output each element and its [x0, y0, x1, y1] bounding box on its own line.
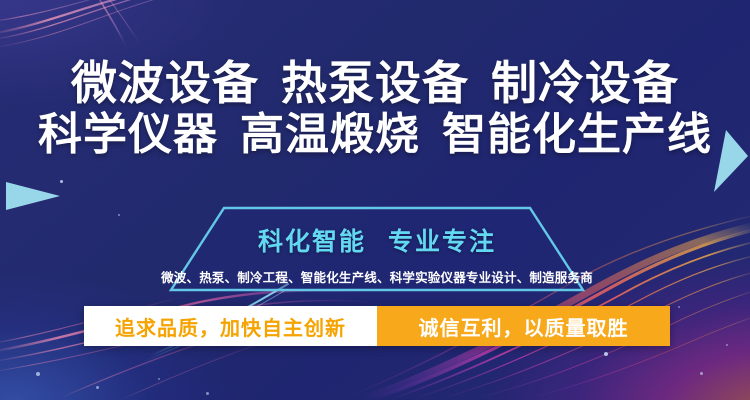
headline-line-1: 微波设备热泵设备制冷设备 [0, 58, 750, 110]
headline-line-2: 科学仪器高温煅烧智能化生产线 [0, 110, 750, 159]
slogan-button-integrity[interactable]: 诚信互利，以质量取胜 [377, 306, 670, 346]
tagline-title-b: 专业专注 [388, 227, 496, 256]
sparkle-dot [700, 372, 703, 375]
headline-kw-6: 智能化生产线 [442, 109, 712, 160]
headline: 微波设备热泵设备制冷设备 科学仪器高温煅烧智能化生产线 [0, 58, 750, 159]
sparkle-dot [206, 392, 209, 395]
headline-kw-3: 制冷设备 [491, 56, 679, 110]
tagline-description: 微波、热泵、制冷工程、智能化生产线、科学实验仪器专业设计、制造服务商 [161, 267, 593, 286]
sparkle-dot [726, 344, 728, 346]
slogan-button-quality[interactable]: 追求品质，加快自主创新 [84, 306, 377, 346]
sparkle-dot [118, 214, 120, 216]
promo-banner: 微波设备热泵设备制冷设备 科学仪器高温煅烧智能化生产线 科化智能专业专注 微波、… [0, 0, 750, 400]
sparkle-dot [604, 352, 608, 356]
slogan-bar: 追求品质，加快自主创新 诚信互利，以质量取胜 [84, 306, 670, 346]
headline-kw-2: 热泵设备 [281, 56, 469, 110]
headline-kw-5: 高温煅烧 [240, 109, 420, 160]
sparkle-dot [158, 378, 160, 380]
headline-kw-1: 微波设备 [71, 56, 259, 110]
tagline-title-a: 科化智能 [258, 227, 366, 256]
tagline-title: 科化智能专业专注 [258, 222, 496, 258]
sparkle-dot [96, 386, 99, 389]
triangle-right-icon-left [2, 180, 64, 224]
headline-kw-4: 科学仪器 [38, 109, 218, 160]
sparkle-dot [678, 306, 680, 308]
tagline-panel: 科化智能专业专注 微波、热泵、制冷工程、智能化生产线、科学实验仪器专业设计、制造… [168, 205, 586, 293]
sparkle-dot [36, 372, 40, 376]
